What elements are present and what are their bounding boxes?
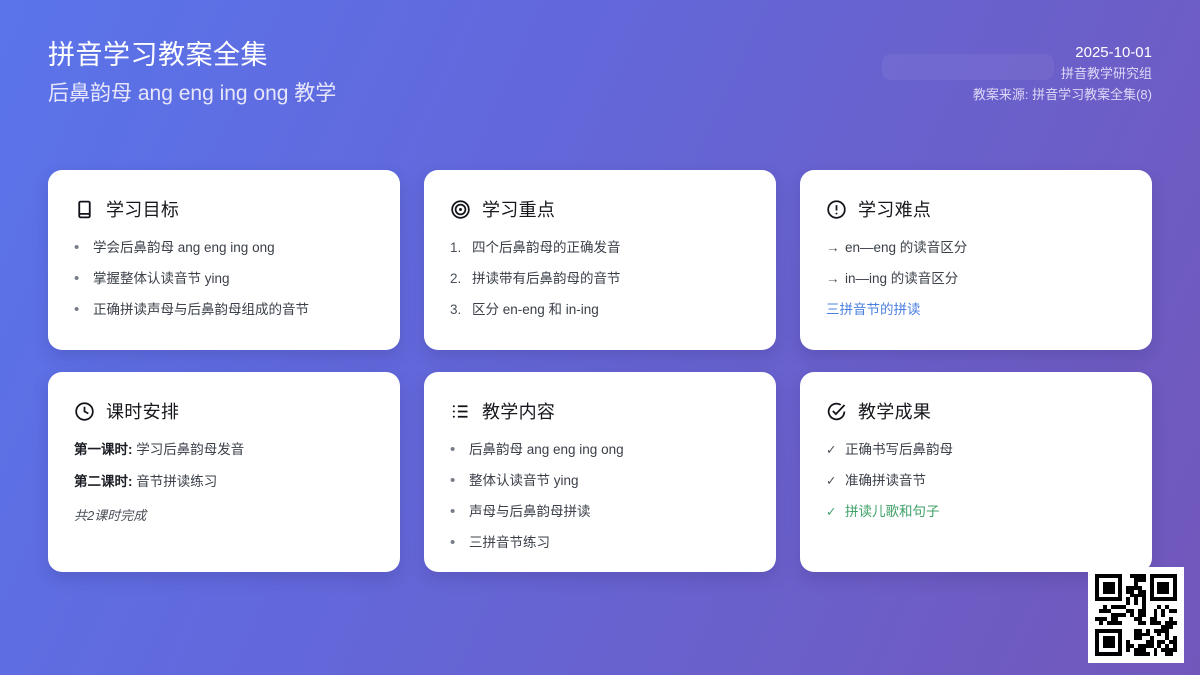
schedule-row: 第一课时: 学习后鼻韵母发音 bbox=[74, 441, 374, 459]
schedule-label: 第一课时: bbox=[74, 442, 133, 457]
list-item: 3. 区分 en-eng 和 in-ing bbox=[450, 301, 750, 319]
list-item-label: 区分 en-eng 和 in-ing bbox=[472, 301, 750, 319]
bullet-icon: • bbox=[450, 534, 469, 552]
card-header: 教学成果 bbox=[826, 398, 1126, 424]
list-item: 2. 拼读带有后鼻韵母的音节 bbox=[450, 270, 750, 288]
difficulty-link-label: 三拼音节的拼读 bbox=[826, 301, 1126, 319]
list-number: 3. bbox=[450, 301, 472, 319]
list-item: → in—ing 的读音区分 bbox=[826, 270, 1126, 288]
bullet-icon: • bbox=[450, 503, 469, 521]
card-header: 学习目标 bbox=[74, 196, 374, 222]
bullet-icon: • bbox=[450, 472, 469, 490]
list-item-label: 声母与后鼻韵母拼读 bbox=[469, 503, 750, 521]
difficulty-list: → en—eng 的读音区分 → in—ing 的读音区分 三拼音节的拼读 bbox=[826, 239, 1126, 319]
list-item: → en—eng 的读音区分 bbox=[826, 239, 1126, 257]
card-outcomes: 教学成果 ✓ 正确书写后鼻韵母 ✓ 准确拼读音节 ✓ 拼读儿歌和句子 bbox=[800, 372, 1152, 572]
check-icon: ✓ bbox=[826, 503, 845, 521]
list-item: • 掌握整体认读音节 ying bbox=[74, 270, 374, 288]
card-title: 学习难点 bbox=[858, 196, 931, 222]
book-icon bbox=[74, 199, 95, 220]
qr-code[interactable] bbox=[1088, 567, 1184, 663]
goal-list: • 学会后鼻韵母 ang eng ing ong • 掌握整体认读音节 ying… bbox=[74, 239, 374, 319]
card-header: 课时安排 bbox=[74, 398, 374, 424]
check-icon: ✓ bbox=[826, 472, 845, 490]
meta-date: 2025-10-01 bbox=[973, 42, 1152, 63]
list-item-label: 正确拼读声母与后鼻韵母组成的音节 bbox=[93, 301, 374, 319]
outcome-list: ✓ 正确书写后鼻韵母 ✓ 准确拼读音节 ✓ 拼读儿歌和句子 bbox=[826, 441, 1126, 521]
list-icon bbox=[450, 401, 471, 422]
list-item-label: 整体认读音节 ying bbox=[469, 472, 750, 490]
meta-source: 教案来源: 拼音学习教案全集(8) bbox=[973, 84, 1152, 105]
check-circle-icon bbox=[826, 401, 847, 422]
card-title: 课时安排 bbox=[106, 398, 179, 424]
list-item: ✓ 正确书写后鼻韵母 bbox=[826, 441, 1126, 459]
list-item: 1. 四个后鼻韵母的正确发音 bbox=[450, 239, 750, 257]
content-list: • 后鼻韵母 ang eng ing ong • 整体认读音节 ying • 声… bbox=[450, 441, 750, 552]
bullet-icon: • bbox=[74, 301, 93, 319]
card-teaching-content: 教学内容 • 后鼻韵母 ang eng ing ong • 整体认读音节 yin… bbox=[424, 372, 776, 572]
target-icon bbox=[450, 199, 471, 220]
list-item-label: 拼读带有后鼻韵母的音节 bbox=[472, 270, 750, 288]
card-title: 学习重点 bbox=[482, 196, 555, 222]
list-number: 1. bbox=[450, 239, 472, 257]
bullet-icon: • bbox=[74, 270, 93, 288]
list-item-label: in—ing 的读音区分 bbox=[845, 270, 1126, 288]
card-header: 教学内容 bbox=[450, 398, 750, 424]
arrow-icon: → bbox=[826, 239, 845, 257]
list-number: 2. bbox=[450, 270, 472, 288]
schedule-value: 学习后鼻韵母发音 bbox=[136, 442, 244, 457]
list-item-label: 学会后鼻韵母 ang eng ing ong bbox=[93, 239, 374, 257]
schedule-note: 共2课时完成 bbox=[74, 505, 374, 524]
list-item-label: 拼读儿歌和句子 bbox=[845, 503, 1126, 521]
card-grid: 学习目标 • 学会后鼻韵母 ang eng ing ong • 掌握整体认读音节… bbox=[48, 170, 1152, 572]
card-header: 学习难点 bbox=[826, 196, 1126, 222]
bullet-icon: • bbox=[450, 441, 469, 459]
card-title: 教学成果 bbox=[858, 398, 931, 424]
list-item: ✓ 准确拼读音节 bbox=[826, 472, 1126, 490]
clock-icon bbox=[74, 401, 95, 422]
list-item-label: en—eng 的读音区分 bbox=[845, 239, 1126, 257]
card-key-points: 学习重点 1. 四个后鼻韵母的正确发音 2. 拼读带有后鼻韵母的音节 3. 区分… bbox=[424, 170, 776, 350]
arrow-icon: → bbox=[826, 270, 845, 288]
schedule-label: 第二课时: bbox=[74, 474, 133, 489]
list-item: ✓ 拼读儿歌和句子 bbox=[826, 503, 1126, 521]
schedule-value: 音节拼读练习 bbox=[136, 474, 217, 489]
check-icon: ✓ bbox=[826, 441, 845, 459]
list-item-label: 三拼音节练习 bbox=[469, 534, 750, 552]
header-meta: 2025-10-01 拼音教学研究组 教案来源: 拼音学习教案全集(8) bbox=[973, 42, 1152, 105]
card-title: 学习目标 bbox=[106, 196, 179, 222]
list-item-label: 掌握整体认读音节 ying bbox=[93, 270, 374, 288]
list-item: • 三拼音节练习 bbox=[450, 534, 750, 552]
list-item-label: 后鼻韵母 ang eng ing ong bbox=[469, 441, 750, 459]
list-item-label: 四个后鼻韵母的正确发音 bbox=[472, 239, 750, 257]
list-item: • 整体认读音节 ying bbox=[450, 472, 750, 490]
qr-code-modules bbox=[1095, 574, 1177, 656]
card-header: 学习重点 bbox=[450, 196, 750, 222]
page-header: 拼音学习教案全集 后鼻韵母 ang eng ing ong 教学 2025-10… bbox=[48, 38, 1152, 134]
card-difficulties: 学习难点 → en—eng 的读音区分 → in—ing 的读音区分 三拼音节的… bbox=[800, 170, 1152, 350]
schedule-row: 第二课时: 音节拼读练习 bbox=[74, 473, 374, 491]
bullet-icon: • bbox=[74, 239, 93, 257]
list-item-label: 准确拼读音节 bbox=[845, 472, 1126, 490]
list-item-label: 正确书写后鼻韵母 bbox=[845, 441, 1126, 459]
exclamation-circle-icon bbox=[826, 199, 847, 220]
list-item: • 声母与后鼻韵母拼读 bbox=[450, 503, 750, 521]
difficulty-link[interactable]: 三拼音节的拼读 bbox=[826, 301, 1126, 319]
card-learning-goals: 学习目标 • 学会后鼻韵母 ang eng ing ong • 掌握整体认读音节… bbox=[48, 170, 400, 350]
schedule-list: 第一课时: 学习后鼻韵母发音 第二课时: 音节拼读练习 共2课时完成 bbox=[74, 441, 374, 524]
card-schedule: 课时安排 第一课时: 学习后鼻韵母发音 第二课时: 音节拼读练习 共2课时完成 bbox=[48, 372, 400, 572]
list-item: • 学会后鼻韵母 ang eng ing ong bbox=[74, 239, 374, 257]
key-point-list: 1. 四个后鼻韵母的正确发音 2. 拼读带有后鼻韵母的音节 3. 区分 en-e… bbox=[450, 239, 750, 319]
list-item: • 后鼻韵母 ang eng ing ong bbox=[450, 441, 750, 459]
card-title: 教学内容 bbox=[482, 398, 555, 424]
list-item: • 正确拼读声母与后鼻韵母组成的音节 bbox=[74, 301, 374, 319]
meta-group: 拼音教学研究组 bbox=[973, 63, 1152, 84]
